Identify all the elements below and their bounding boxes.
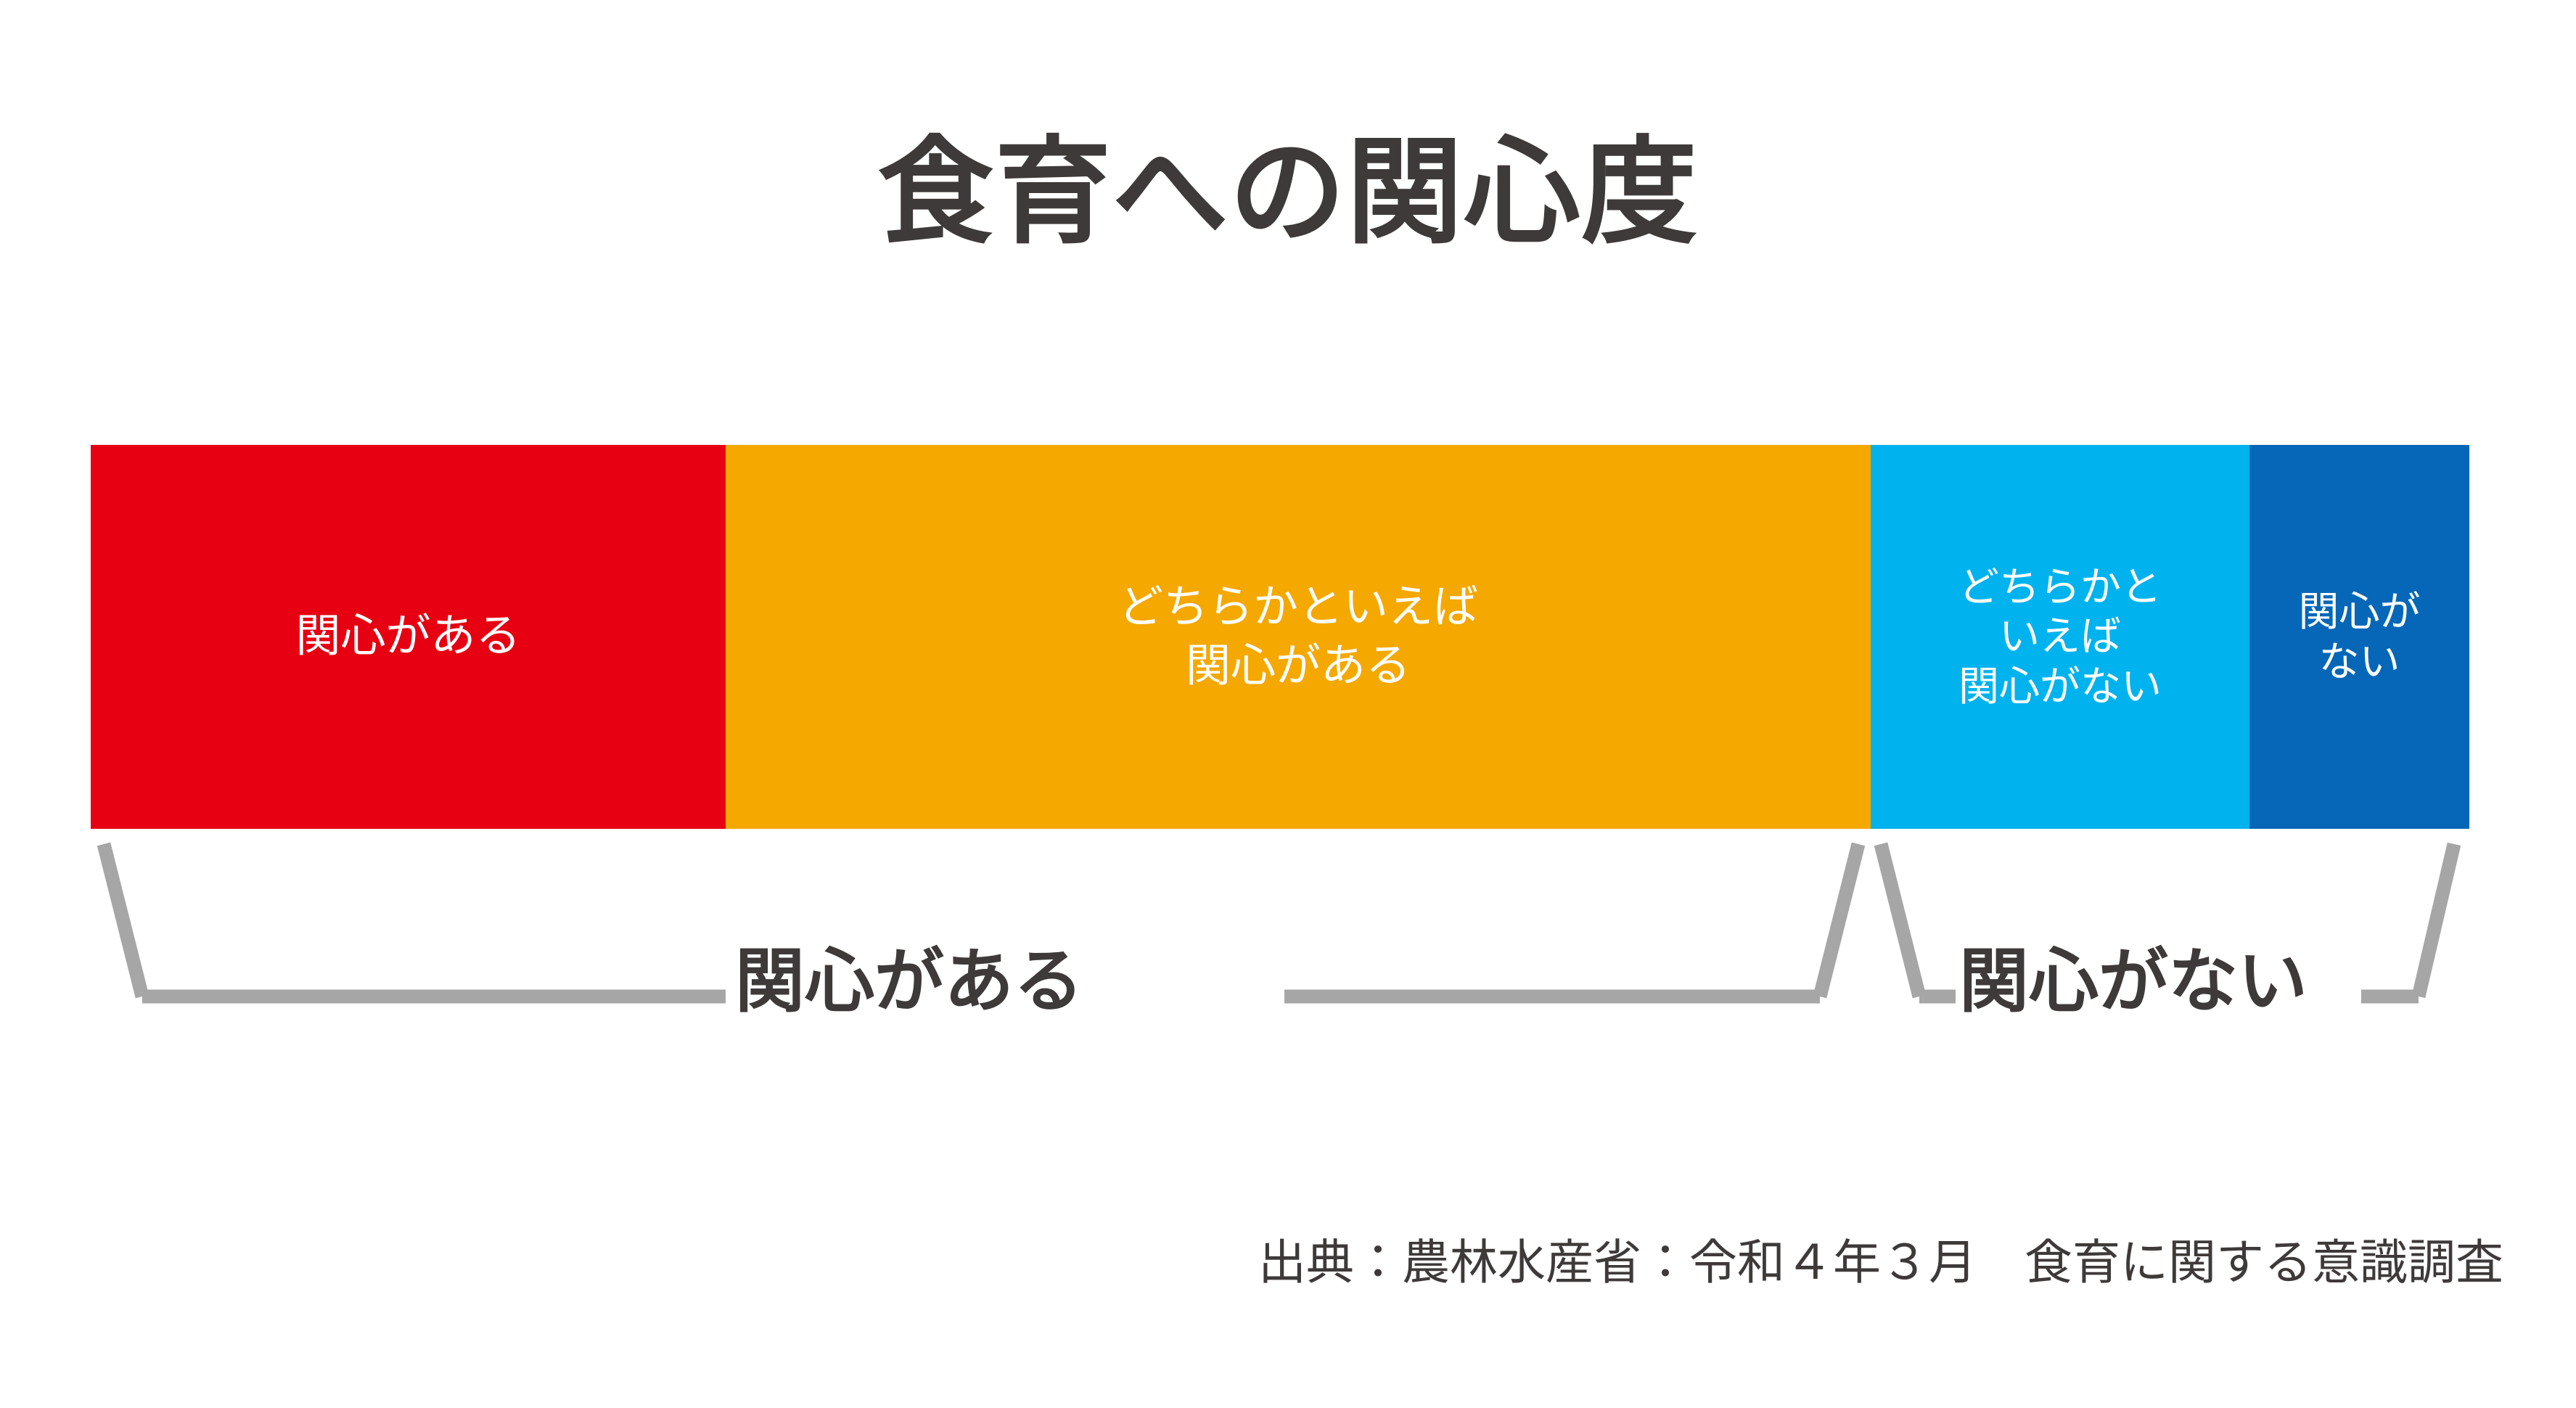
group-label-interested: 関心がある — [735, 947, 1083, 1017]
group-label-not-interested: 関心がない — [1959, 947, 2308, 1017]
bar-segment-label: どちらかといえば 関心がある — [1118, 578, 1478, 695]
stacked-bar-chart: 関心がある どちらかといえば 関心がある どちらかと いえば 関心がない 関心が… — [91, 445, 2469, 829]
bar-segment-somewhat-not-interested[interactable]: どちらかと いえば 関心がない — [1871, 445, 2249, 829]
bar-segment-label: 関心が ない — [2299, 587, 2421, 687]
bracket-right-tick-end — [2419, 844, 2454, 996]
bracket-left-tick-start — [104, 844, 142, 996]
bar-segment-label: 関心がある — [295, 607, 520, 666]
bracket-right-tick-start — [1881, 844, 1919, 996]
bar-segment-not-interested[interactable]: 関心が ない — [2249, 445, 2469, 829]
page-title: 食育への関心度 — [0, 134, 2576, 250]
source-note: 出典：農林水産省：令和４年３月 食育に関する意識調査 — [0, 1234, 2503, 1291]
bracket-left-tick-end — [1820, 844, 1858, 996]
bar-segment-label: どちらかと いえば 関心がない — [1958, 562, 2162, 711]
bar-segment-very-interested[interactable]: 関心がある — [91, 445, 726, 829]
bar-segment-somewhat-interested[interactable]: どちらかといえば 関心がある — [726, 445, 1871, 829]
